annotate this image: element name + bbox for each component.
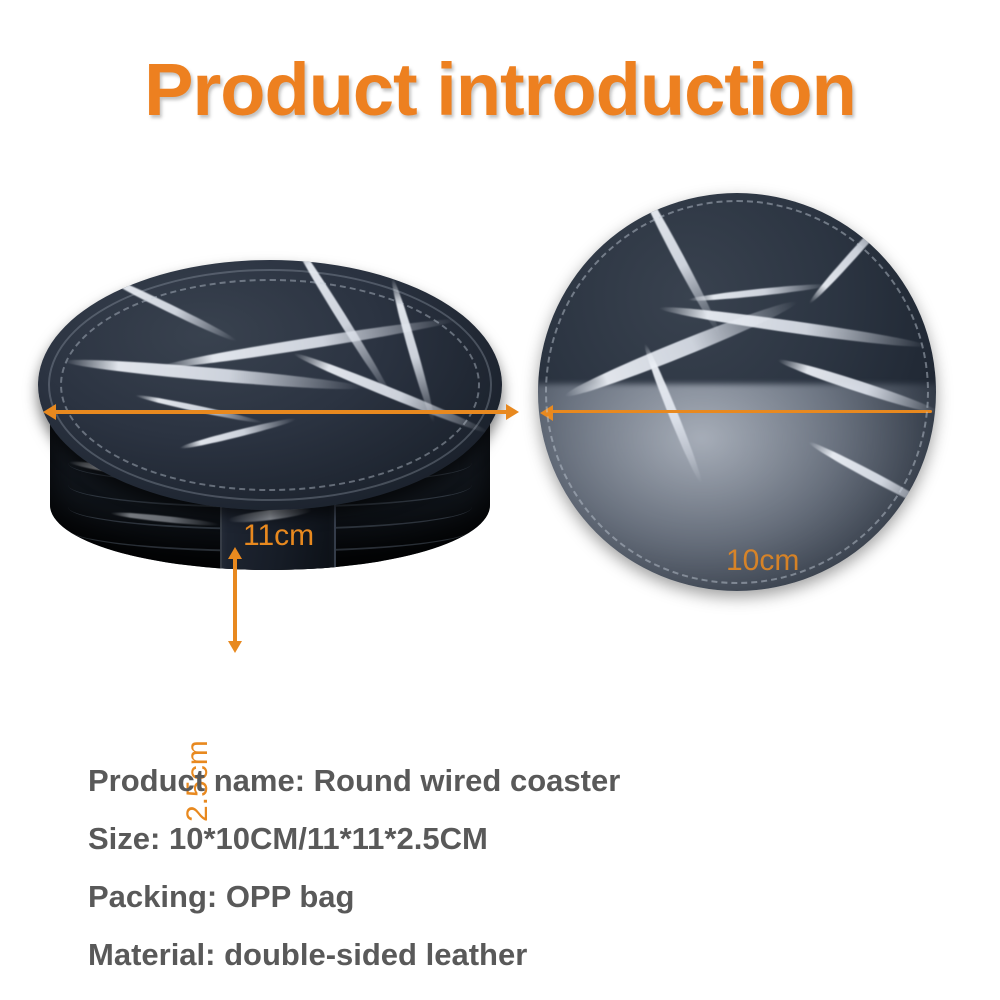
- marble-vein: [179, 416, 297, 452]
- coaster-stack-top-lid: [38, 260, 502, 510]
- dimension-line-2-5cm: [233, 557, 237, 643]
- marble-vein: [135, 393, 263, 426]
- marble-vein: [388, 277, 438, 424]
- marble-vein: [100, 272, 238, 345]
- marble-vein: [110, 510, 220, 527]
- marble-vein: [292, 349, 490, 437]
- product-photo-coaster-stack: [38, 260, 508, 650]
- marble-vein: [64, 355, 364, 394]
- product-spec-list: Product name: Round wired coaster Size: …: [88, 752, 908, 984]
- product-photo-single-coaster: [538, 193, 936, 591]
- marble-vein: [688, 282, 828, 304]
- dimension-label-10cm: 10cm: [726, 545, 799, 577]
- spec-line-size: Size: 10*10CM/11*11*2.5CM: [88, 810, 908, 868]
- dimension-arrowhead-down: [228, 641, 242, 653]
- dimension-arrowhead-right: [506, 404, 519, 420]
- marble-vein: [287, 260, 395, 399]
- marble-vein: [159, 315, 457, 373]
- page-title: Product introduction: [0, 48, 1000, 132]
- marble-vein: [658, 302, 927, 351]
- dimension-line-10cm: [550, 410, 932, 413]
- marble-vein: [807, 438, 936, 516]
- marble-vein: [635, 193, 724, 335]
- spec-line-packing: Packing: OPP bag: [88, 868, 908, 926]
- spec-line-product-name: Product name: Round wired coaster: [88, 752, 908, 810]
- marble-vein: [562, 295, 800, 403]
- dimension-label-11cm: 11cm: [243, 520, 314, 552]
- marble-vein: [807, 204, 900, 306]
- marble-vein: [641, 342, 706, 484]
- spec-line-material: Material: double-sided leather: [88, 926, 908, 984]
- dimension-arrowhead-left: [540, 405, 553, 421]
- product-image-stage: 11cm 2.5cm 10cm: [0, 165, 1000, 685]
- marble-vein: [776, 355, 936, 418]
- dimension-line-11cm: [54, 410, 508, 414]
